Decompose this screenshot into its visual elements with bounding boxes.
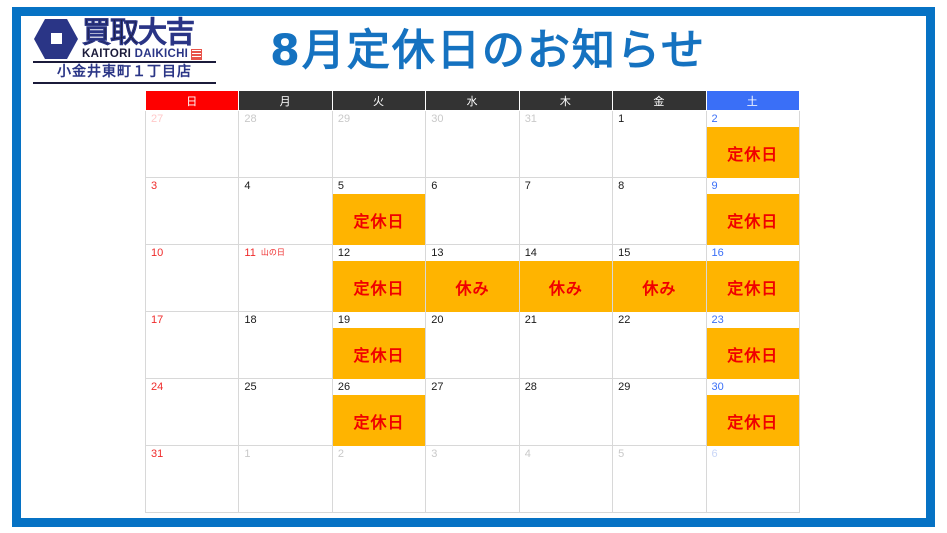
- calendar-day-cell[interactable]: 30定休日: [706, 379, 799, 446]
- calendar-day-cell[interactable]: 15休み: [613, 245, 706, 312]
- day-number: 1: [239, 446, 331, 460]
- calendar-day-cell[interactable]: 29: [332, 111, 425, 178]
- calendar-day-cell[interactable]: 31: [146, 446, 239, 513]
- calendar-day-cell[interactable]: 8: [613, 178, 706, 245]
- calendar-day-cell[interactable]: 27: [426, 379, 519, 446]
- weekday-header-fri: 金: [613, 91, 706, 111]
- day-number: 16: [707, 245, 799, 259]
- frame-border-right: [926, 7, 935, 527]
- closed-day-badge: 定休日: [707, 127, 799, 178]
- day-number: 6: [707, 446, 799, 460]
- weekday-header-sun: 日: [146, 91, 239, 111]
- day-cell-content: 24: [146, 379, 238, 445]
- logo-wordmark: 買取大吉 KAITORI DAIKICHI: [82, 18, 202, 60]
- day-number: 4: [239, 178, 331, 192]
- day-cell-content: 16定休日: [707, 245, 799, 311]
- day-cell-content: 4: [520, 446, 612, 512]
- day-number: 10: [146, 245, 238, 259]
- logo-kanji-daikichi: 大吉: [138, 15, 194, 49]
- calendar-day-cell[interactable]: 13休み: [426, 245, 519, 312]
- calendar-day-cell[interactable]: 12定休日: [332, 245, 425, 312]
- day-number: 5: [613, 446, 705, 460]
- calendar-table: 日 月 火 水 木 金 土 272829303112定休日345定休日6789定…: [145, 90, 800, 513]
- weekday-header-thu: 木: [519, 91, 612, 111]
- calendar-day-cell[interactable]: 19定休日: [332, 312, 425, 379]
- day-cell-content: 22: [613, 312, 705, 378]
- calendar-day-cell[interactable]: 30: [426, 111, 519, 178]
- closed-day-badge: 定休日: [333, 328, 425, 379]
- day-number: 19: [333, 312, 425, 326]
- day-number: 26: [333, 379, 425, 393]
- calendar-day-cell[interactable]: 6: [706, 446, 799, 513]
- day-number: 22: [613, 312, 705, 326]
- calendar-day-cell[interactable]: 1: [239, 446, 332, 513]
- calendar-day-cell[interactable]: 23定休日: [706, 312, 799, 379]
- day-number: 8: [613, 178, 705, 192]
- calendar-day-cell[interactable]: 27: [146, 111, 239, 178]
- closed-day-badge: 定休日: [333, 194, 425, 245]
- day-cell-content: 12定休日: [333, 245, 425, 311]
- day-cell-content: 30定休日: [707, 379, 799, 445]
- shop-name: 小金井東町１丁目店: [33, 64, 216, 81]
- page-title: 8月定休日のお知らせ: [270, 22, 770, 80]
- day-number: 5: [333, 178, 425, 192]
- day-number: 3: [426, 446, 518, 460]
- calendar-day-cell[interactable]: 4: [239, 178, 332, 245]
- day-cell-content: 3: [146, 178, 238, 244]
- calendar-day-cell[interactable]: 1: [613, 111, 706, 178]
- calendar-week-row: 31123456: [146, 446, 800, 513]
- calendar-day-cell[interactable]: 3: [426, 446, 519, 513]
- calendar-day-cell[interactable]: 24: [146, 379, 239, 446]
- day-cell-content: 27: [426, 379, 518, 445]
- day-number: 29: [613, 379, 705, 393]
- logo-kanji-kaitori: 買取: [82, 15, 138, 49]
- day-number: 28: [520, 379, 612, 393]
- day-cell-content: 5定休日: [333, 178, 425, 244]
- day-number: 9: [707, 178, 799, 192]
- day-number: 27: [146, 111, 238, 125]
- logo-romaji-row: KAITORI DAIKICHI: [82, 48, 202, 60]
- day-cell-content: 28: [520, 379, 612, 445]
- day-number: 7: [520, 178, 612, 192]
- notice-page: 買取大吉 KAITORI DAIKICHI 小金井東町１丁目店 8月定休日のお知…: [0, 0, 947, 533]
- day-cell-content: 31: [520, 111, 612, 177]
- day-number: 27: [426, 379, 518, 393]
- day-cell-content: 11山の日: [239, 245, 331, 311]
- day-number: 17: [146, 312, 238, 326]
- calendar-day-cell[interactable]: 25: [239, 379, 332, 446]
- day-cell-content: 31: [146, 446, 238, 512]
- logo-kanji: 買取大吉: [82, 18, 202, 47]
- day-number: 12: [333, 245, 425, 259]
- calendar-week-row: 345定休日6789定休日: [146, 178, 800, 245]
- calendar-day-cell[interactable]: 28: [239, 111, 332, 178]
- day-number: 29: [333, 111, 425, 125]
- day-cell-content: 1: [239, 446, 331, 512]
- calendar-day-cell[interactable]: 6: [426, 178, 519, 245]
- calendar-day-cell[interactable]: 9定休日: [706, 178, 799, 245]
- calendar: 日 月 火 水 木 金 土 272829303112定休日345定休日6789定…: [145, 90, 800, 513]
- day-cell-content: 20: [426, 312, 518, 378]
- day-cell-content: 5: [613, 446, 705, 512]
- day-cell-content: 6: [707, 446, 799, 512]
- day-cell-content: 3: [426, 446, 518, 512]
- calendar-day-cell[interactable]: 20: [426, 312, 519, 379]
- day-number: 14: [520, 245, 612, 259]
- day-cell-content: 8: [613, 178, 705, 244]
- weekday-header-tue: 火: [332, 91, 425, 111]
- closed-day-badge: 定休日: [333, 395, 425, 446]
- day-cell-content: 9定休日: [707, 178, 799, 244]
- calendar-day-cell[interactable]: 5: [613, 446, 706, 513]
- day-cell-content: 21: [520, 312, 612, 378]
- day-number: 30: [426, 111, 518, 125]
- closed-day-badge: 休み: [613, 261, 705, 312]
- closed-day-badge: 定休日: [707, 395, 799, 446]
- day-cell-content: 18: [239, 312, 331, 378]
- day-number: 1: [613, 111, 705, 125]
- day-cell-content: 2: [333, 446, 425, 512]
- day-number: 28: [239, 111, 331, 125]
- day-number: 21: [520, 312, 612, 326]
- weekday-header-sat: 土: [706, 91, 799, 111]
- frame-border-bottom: [12, 518, 935, 527]
- holiday-name-label: 山の日: [261, 248, 285, 257]
- calendar-day-cell[interactable]: 2: [332, 446, 425, 513]
- calendar-day-cell[interactable]: 26定休日: [332, 379, 425, 446]
- logo-romaji-kaitori: KAITORI: [82, 48, 131, 60]
- day-number: 11山の日: [239, 245, 331, 259]
- closed-day-badge: 休み: [520, 261, 612, 312]
- day-cell-content: 29: [613, 379, 705, 445]
- day-cell-content: 13休み: [426, 245, 518, 311]
- calendar-body: 272829303112定休日345定休日6789定休日1011山の日12定休日…: [146, 111, 800, 513]
- day-number: 15: [613, 245, 705, 259]
- calendar-day-cell[interactable]: 7: [519, 178, 612, 245]
- day-number: 20: [426, 312, 518, 326]
- calendar-day-cell[interactable]: 22: [613, 312, 706, 379]
- day-cell-content: 27: [146, 111, 238, 177]
- day-cell-content: 23定休日: [707, 312, 799, 378]
- day-cell-content: 30: [426, 111, 518, 177]
- logo-romaji: KAITORI DAIKICHI: [82, 48, 188, 60]
- day-number: 4: [520, 446, 612, 460]
- calendar-week-row: 242526定休日27282930定休日: [146, 379, 800, 446]
- closed-day-badge: 定休日: [707, 328, 799, 379]
- day-number: 31: [146, 446, 238, 460]
- calendar-day-cell[interactable]: 29: [613, 379, 706, 446]
- calendar-day-cell[interactable]: 4: [519, 446, 612, 513]
- calendar-week-row: 272829303112定休日: [146, 111, 800, 178]
- calendar-day-cell[interactable]: 16定休日: [706, 245, 799, 312]
- calendar-week-row: 171819定休日20212223定休日: [146, 312, 800, 379]
- logo-divider-bottom: [33, 82, 216, 84]
- closed-day-badge: 休み: [426, 261, 518, 312]
- calendar-day-cell[interactable]: 21: [519, 312, 612, 379]
- day-cell-content: 19定休日: [333, 312, 425, 378]
- calendar-day-cell[interactable]: 2定休日: [706, 111, 799, 178]
- calendar-day-cell[interactable]: 3: [146, 178, 239, 245]
- calendar-day-cell[interactable]: 31: [519, 111, 612, 178]
- calendar-day-cell[interactable]: 10: [146, 245, 239, 312]
- day-cell-content: 26定休日: [333, 379, 425, 445]
- day-cell-content: 6: [426, 178, 518, 244]
- calendar-day-cell[interactable]: 18: [239, 312, 332, 379]
- day-number: 30: [707, 379, 799, 393]
- frame-border-left: [12, 7, 21, 527]
- hexagon-logo-icon: [33, 18, 79, 60]
- day-number: 23: [707, 312, 799, 326]
- calendar-day-cell[interactable]: 14休み: [519, 245, 612, 312]
- day-number: 13: [426, 245, 518, 259]
- day-cell-content: 10: [146, 245, 238, 311]
- day-number: 6: [426, 178, 518, 192]
- brand-logo: 買取大吉 KAITORI DAIKICHI 小金井東町１丁目店: [33, 18, 218, 88]
- day-cell-content: 14休み: [520, 245, 612, 311]
- weekday-header-mon: 月: [239, 91, 332, 111]
- day-cell-content: 25: [239, 379, 331, 445]
- red-stamp-icon: [191, 49, 202, 60]
- day-number: 2: [333, 446, 425, 460]
- day-cell-content: 15休み: [613, 245, 705, 311]
- day-cell-content: 4: [239, 178, 331, 244]
- closed-day-badge: 定休日: [333, 261, 425, 312]
- calendar-header-row: 日 月 火 水 木 金 土: [146, 91, 800, 111]
- day-number: 24: [146, 379, 238, 393]
- calendar-day-cell[interactable]: 28: [519, 379, 612, 446]
- logo-divider-top: [33, 61, 216, 63]
- day-cell-content: 17: [146, 312, 238, 378]
- logo-romaji-daikichi: DAIKICHI: [135, 48, 189, 60]
- day-cell-content: 2定休日: [707, 111, 799, 177]
- day-number: 3: [146, 178, 238, 192]
- day-number: 2: [707, 111, 799, 125]
- weekday-header-wed: 水: [426, 91, 519, 111]
- logo-top-row: 買取大吉 KAITORI DAIKICHI: [33, 18, 218, 60]
- calendar-week-row: 1011山の日12定休日13休み14休み15休み16定休日: [146, 245, 800, 312]
- day-number: 31: [520, 111, 612, 125]
- calendar-day-cell[interactable]: 5定休日: [332, 178, 425, 245]
- calendar-day-cell[interactable]: 11山の日: [239, 245, 332, 312]
- closed-day-badge: 定休日: [707, 261, 799, 312]
- day-number: 18: [239, 312, 331, 326]
- day-cell-content: 29: [333, 111, 425, 177]
- closed-day-badge: 定休日: [707, 194, 799, 245]
- day-cell-content: 28: [239, 111, 331, 177]
- calendar-day-cell[interactable]: 17: [146, 312, 239, 379]
- day-cell-content: 1: [613, 111, 705, 177]
- day-cell-content: 7: [520, 178, 612, 244]
- day-number: 25: [239, 379, 331, 393]
